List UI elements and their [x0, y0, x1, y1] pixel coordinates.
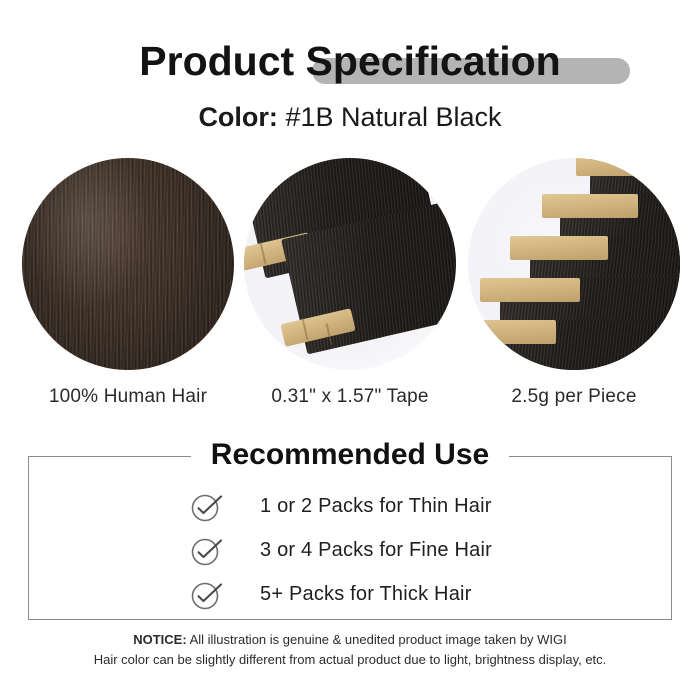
tape-tab-1 [468, 320, 556, 344]
tape-tab-2 [480, 278, 580, 302]
list-item: 3 or 4 Packs for Fine Hair [0, 528, 700, 572]
two-tape-wefts-image [244, 158, 456, 370]
list-item: 1 or 2 Packs for Thin Hair [0, 484, 700, 528]
list-item-label: 1 or 2 Packs for Thin Hair [260, 495, 492, 518]
tape-tab-5 [576, 158, 668, 176]
notice-line-2: Hair color can be slightly different fro… [0, 650, 700, 670]
recommended-use-heading-text: Recommended Use [191, 435, 509, 475]
check-circle-icon [190, 533, 224, 567]
check-circle-icon [190, 577, 224, 611]
hair-texture-closeup-image [22, 158, 234, 370]
recommended-use-heading: Recommended Use [0, 435, 700, 475]
notice-block: NOTICE: All illustration is genuine & un… [0, 630, 700, 670]
hair-strands-texture [22, 158, 234, 370]
feature-caption: 2.5g per Piece [466, 386, 682, 408]
stacked-tape-wefts-image [468, 158, 680, 370]
feature-human-hair: 100% Human Hair [20, 158, 236, 408]
feature-tape-size: 0.31" x 1.57" Tape [242, 158, 458, 408]
list-item-label: 5+ Packs for Thick Hair [260, 583, 472, 606]
notice-prefix: NOTICE: [133, 632, 186, 647]
color-label: Color: [198, 102, 277, 132]
recommended-use-list: 1 or 2 Packs for Thin Hair 3 or 4 Packs … [0, 484, 700, 616]
list-item-label: 3 or 4 Packs for Fine Hair [260, 539, 492, 562]
feature-caption: 100% Human Hair [20, 386, 236, 408]
page-title-text: Product Specification [139, 36, 560, 86]
color-subtitle: Color: #1B Natural Black [0, 100, 700, 134]
check-circle-icon [190, 489, 224, 523]
notice-text-1: All illustration is genuine & unedited p… [187, 632, 567, 647]
tape-tab-4 [542, 194, 638, 218]
list-item: 5+ Packs for Thick Hair [0, 572, 700, 616]
feature-weight-per-piece: 2.5g per Piece [466, 158, 682, 408]
color-value: #1B Natural Black [285, 102, 501, 132]
feature-caption: 0.31" x 1.57" Tape [242, 386, 458, 408]
feature-row: 100% Human Hair 0.31" x 1.57" Tape [0, 158, 700, 418]
notice-line-1: NOTICE: All illustration is genuine & un… [0, 630, 700, 650]
page-title: Product Specification [0, 36, 700, 90]
tape-tab-3 [510, 236, 608, 260]
